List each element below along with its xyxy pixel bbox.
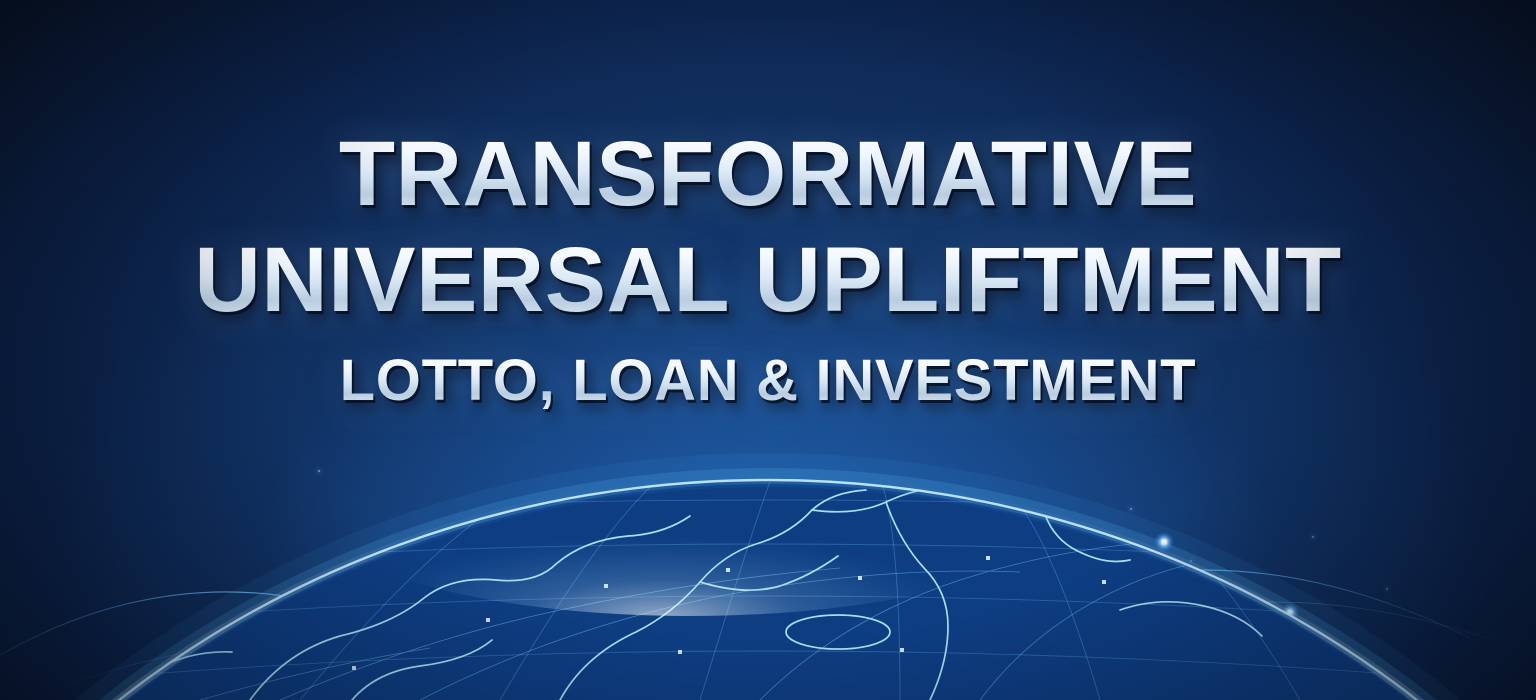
network-node xyxy=(866,504,894,532)
hero-banner: TRANSFORMATIVE UNIVERSAL UPLIFTMENT LOTT… xyxy=(0,0,1536,700)
subtitle: LOTTO, LOAN & INVESTMENT xyxy=(24,352,1512,410)
network-node xyxy=(924,560,944,580)
subtitle-wrap: LOTTO, LOAN & INVESTMENT xyxy=(24,352,1512,410)
headline-block: TRANSFORMATIVE UNIVERSAL UPLIFTMENT LOTT… xyxy=(0,128,1536,410)
network-node xyxy=(1281,603,1299,621)
network-node xyxy=(693,531,715,553)
network-node xyxy=(309,623,327,641)
title-line-2-wrap: UNIVERSAL UPLIFTMENT xyxy=(24,234,1512,326)
network-arc-layer xyxy=(0,380,1536,700)
network-node xyxy=(479,539,505,565)
title-line-1: TRANSFORMATIVE xyxy=(24,128,1512,220)
title-line-2: UNIVERSAL UPLIFTMENT xyxy=(24,234,1512,326)
title-line-1-wrap: TRANSFORMATIVE xyxy=(24,128,1512,220)
network-node xyxy=(1154,532,1174,552)
